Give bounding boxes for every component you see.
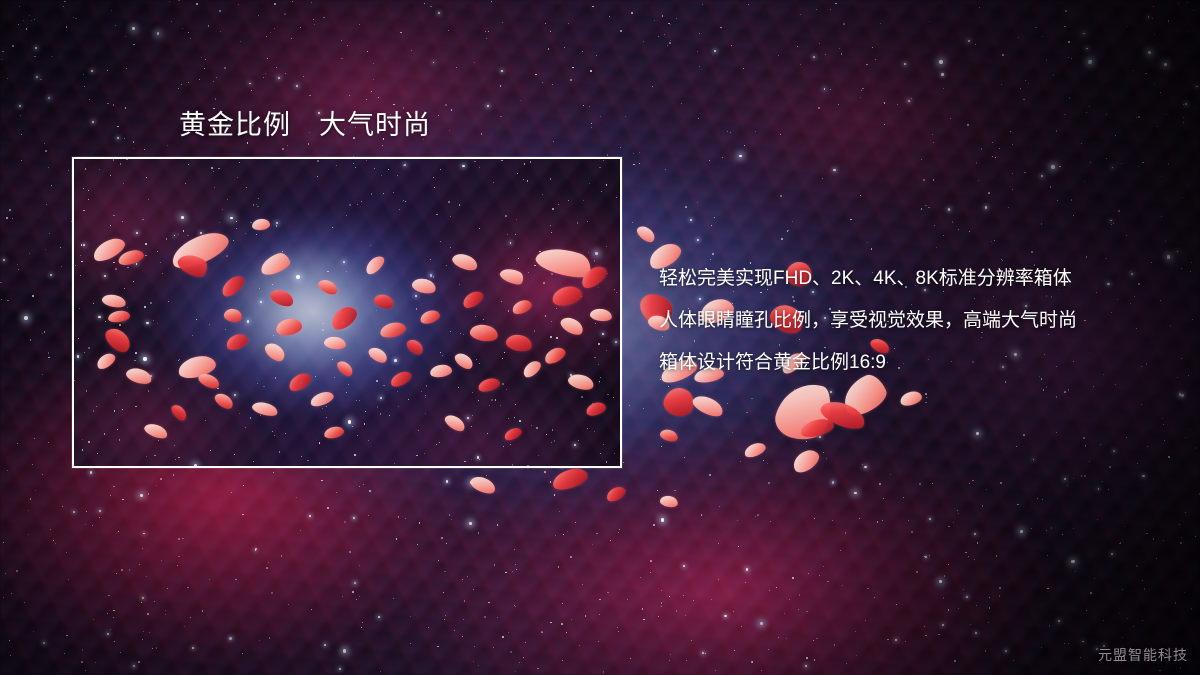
petal xyxy=(335,358,355,379)
petal xyxy=(169,402,189,423)
petal xyxy=(212,390,235,411)
petal xyxy=(460,288,486,311)
petal xyxy=(542,345,568,367)
petal xyxy=(520,358,543,380)
petal xyxy=(316,277,339,297)
petal xyxy=(585,400,608,418)
watermark: 元盟智能科技 xyxy=(1098,645,1188,665)
petal xyxy=(94,350,117,371)
petal xyxy=(323,336,346,351)
petal xyxy=(411,276,438,295)
petal xyxy=(268,287,296,310)
petal xyxy=(107,310,130,324)
petal xyxy=(659,427,680,443)
petal xyxy=(419,308,442,326)
petal xyxy=(690,392,726,420)
petal xyxy=(469,323,499,344)
petal xyxy=(550,284,583,309)
petal xyxy=(372,292,395,311)
petal xyxy=(309,389,336,408)
petal xyxy=(101,293,127,310)
petal xyxy=(124,365,153,386)
petal xyxy=(505,332,534,353)
petal xyxy=(510,298,533,317)
petal xyxy=(251,400,279,419)
petal xyxy=(258,251,292,277)
petal xyxy=(604,484,627,504)
petal xyxy=(363,253,387,277)
petal xyxy=(503,426,524,442)
body-text-block: 轻松完美实现FHD、2K、4K、8K标准分辨率箱体 人体眼睛瞳孔比例，享受视觉效… xyxy=(659,258,1159,384)
petal xyxy=(743,440,768,459)
petal xyxy=(450,251,479,274)
petal xyxy=(251,218,270,231)
petal xyxy=(224,331,250,352)
panel-petals xyxy=(74,159,620,466)
body-line-3: 箱体设计符合黄金比例16:9 xyxy=(659,342,1159,384)
petal xyxy=(477,376,501,394)
petal xyxy=(567,372,596,393)
petal xyxy=(634,223,657,245)
petal xyxy=(219,272,248,299)
petal xyxy=(550,465,590,493)
petal xyxy=(327,302,360,333)
petal xyxy=(899,389,924,408)
petal xyxy=(102,324,135,356)
petal xyxy=(262,340,288,365)
petal xyxy=(498,264,526,287)
petal xyxy=(468,473,497,496)
petal xyxy=(143,421,170,441)
petal xyxy=(223,307,244,324)
slide-canvas: 黄金比例 大气时尚 轻松完美实现FHD、2K、4K、8K标准分辨率箱体 人体眼睛… xyxy=(0,0,1200,675)
panel-image xyxy=(74,159,620,466)
framed-image-panel xyxy=(72,157,622,468)
petal xyxy=(366,344,389,365)
petal xyxy=(789,446,822,477)
petal xyxy=(589,308,612,323)
petal xyxy=(443,412,468,434)
body-line-2: 人体眼睛瞳孔比例，享受视觉效果，高端大气时尚 xyxy=(659,300,1159,342)
petal xyxy=(659,494,679,509)
petal xyxy=(379,320,407,339)
petal xyxy=(286,370,314,394)
petal xyxy=(323,425,345,440)
petal xyxy=(429,364,452,379)
body-line-1: 轻松完美实现FHD、2K、4K、8K标准分辨率箱体 xyxy=(659,258,1159,300)
petal xyxy=(558,314,586,338)
petal xyxy=(404,337,425,358)
petal xyxy=(275,317,303,337)
petal xyxy=(388,369,413,389)
petal xyxy=(196,371,221,391)
page-title: 黄金比例 大气时尚 xyxy=(179,103,431,142)
petal xyxy=(452,350,475,372)
